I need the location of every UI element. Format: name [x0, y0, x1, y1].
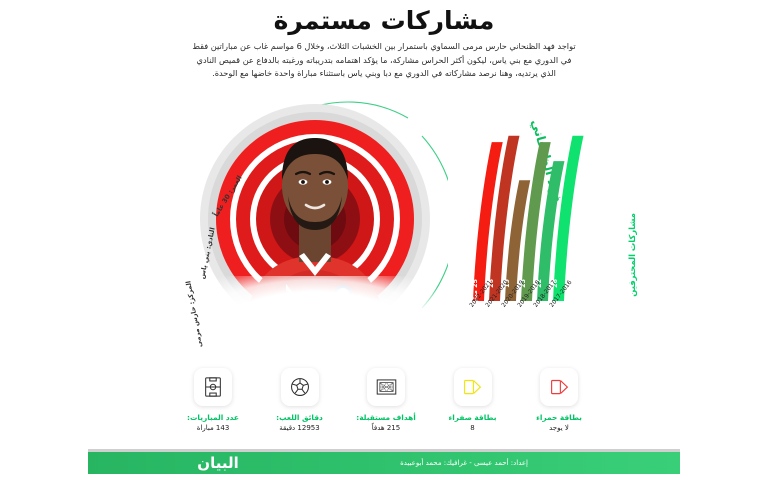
page-intro-text: تواجد فهد الظنحاني حارس مرمى السماوي باس… [188, 40, 580, 81]
stat-value: 143 مباراة [176, 424, 250, 432]
yellow-card-icon [454, 368, 492, 406]
stat-card-goals-conceded[interactable]: أهداف مستقبلة: 215 هدفاً [349, 368, 423, 440]
stat-value: 215 هدفاً [349, 424, 423, 432]
red-card-icon [540, 368, 578, 406]
stat-card-matches[interactable]: عدد المباريات: 143 مباراة [176, 368, 250, 440]
page-title: مشاركات مستمرة [0, 6, 768, 35]
stats-row: عدد المباريات: 143 مباراة دقائق اللعب: 1… [176, 368, 596, 440]
stat-card-red-cards[interactable]: بطاقة حمراء لا يوجد [522, 368, 596, 440]
stat-label: دقائق اللعب: [263, 413, 337, 422]
footer-credits: إعداد: أحمد عيسى - غرافيك: محمد أبوعبيدة [400, 459, 528, 467]
goal-net-icon [367, 368, 405, 406]
player-portrait-block: 55 NIKE فهد الظنحاني العمر: 30 عاماً الن… [150, 92, 470, 342]
stat-card-yellow-cards[interactable]: بطاقة صفراء 8 [436, 368, 510, 440]
publisher-logo: البيان [182, 454, 254, 472]
stat-value: لا يوجد [522, 424, 596, 432]
chart-axis-title: مشاركات المحترفين [627, 213, 637, 297]
stat-label: بطاقة صفراء [436, 413, 510, 422]
footer-bar: إعداد: أحمد عيسى - غرافيك: محمد أبوعبيدة… [88, 452, 680, 474]
football-icon [281, 368, 319, 406]
chart-bars [455, 95, 635, 310]
stat-value: 8 [436, 424, 510, 432]
stat-label: عدد المباريات: [176, 413, 250, 422]
fog-overlay [180, 276, 450, 346]
stat-card-minutes[interactable]: دقائق اللعب: 12953 دقيقة [263, 368, 337, 440]
stat-label: بطاقة حمراء [522, 413, 596, 422]
infographic-page: مشاركات مستمرة تواجد فهد الظنحاني حارس م… [0, 0, 768, 480]
stat-value: 12953 دقيقة [263, 424, 337, 432]
pitch-icon [194, 368, 232, 406]
chart-bar [553, 136, 584, 301]
appearances-bar-chart: 25 مباراة2619252226 2022-20212021-202020… [455, 95, 635, 345]
stat-label: أهداف مستقبلة: [349, 413, 423, 422]
